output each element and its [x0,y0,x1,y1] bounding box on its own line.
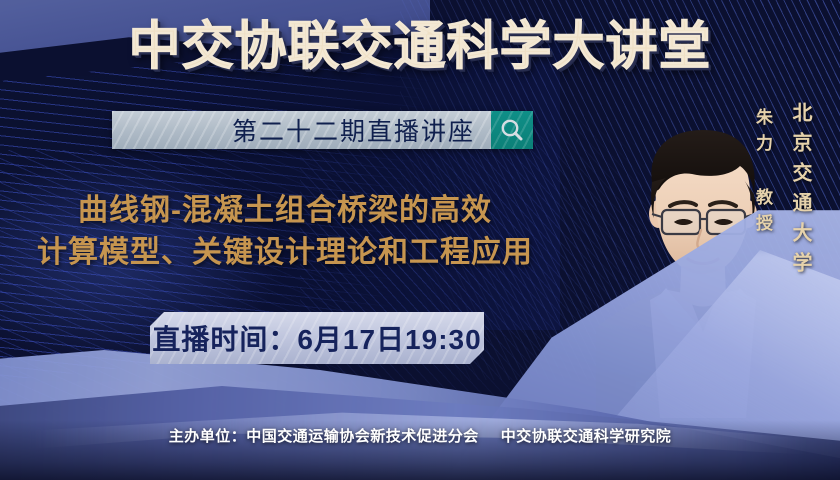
live-lecture-poster: 中交协联交通科学大讲堂 第二十二期直播讲座 曲线钢-混凝土组合桥梁的高效 计算模… [0,0,840,480]
speaker-portrait [596,118,810,418]
page-title: 中交协联交通科学大讲堂 [0,18,840,76]
search-icon[interactable] [491,111,533,149]
speaker-name-title: 朱力 教授 [750,108,775,240]
lecture-topic: 曲线钢-混凝土组合桥梁的高效 计算模型、关键设计理论和工程应用 [0,190,570,274]
series-bar: 第二十二期直播讲座 [112,111,533,149]
organizer-footer: 主办单位：中国交通运输协会新技术促进分会中交协联交通科学研究院 [0,425,840,446]
lecture-topic-line-1: 曲线钢-混凝土组合桥梁的高效 [0,190,570,232]
series-label: 第二十二期直播讲座 [112,111,491,149]
organizer-secondary: 中交协联交通科学研究院 [501,428,672,445]
lecture-topic-line-2: 计算模型、关键设计理论和工程应用 [0,232,570,274]
organizer-primary: 主办单位：中国交通运输协会新技术促进分会 [169,428,479,445]
speaker-affiliation: 北京交通大学 [786,102,815,282]
live-time-badge: 直播时间：6月17日19:30 [150,312,484,364]
